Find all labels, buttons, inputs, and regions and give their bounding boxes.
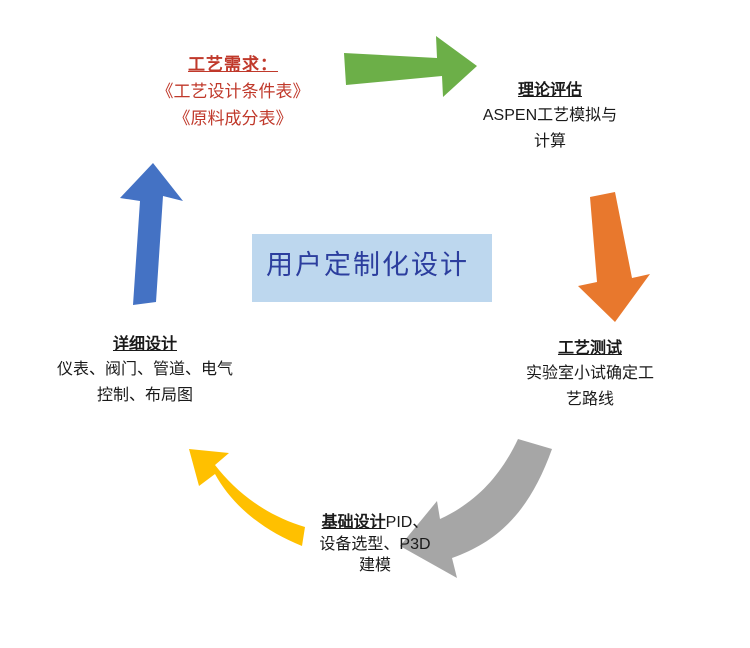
node-theory-title: 理论评估 [455,80,645,102]
center-label-text: 用户定制化设计 [252,252,469,279]
yellow-arrow-upleft-icon [189,449,305,546]
node-detail-title: 详细设计 [25,334,265,356]
node-requirements-title: 工艺需求： [128,54,338,77]
node-detail-line1: 仪表、阀门、管道、电气 [25,358,265,382]
node-theory-line2: 计算 [455,130,645,154]
node-basic-line1-rest: PID、 [386,514,429,531]
diagram-canvas: 用户定制化设计 工艺需求： 《工艺设计条件表》 《原料成分表》 理论评估 ASP… [0,0,750,648]
node-basic: 基础设计PID、 设备选型、P3D 建模 [290,512,460,577]
node-test: 工艺测试 实验室小试确定工 艺路线 [500,338,680,412]
center-label-box: 用户定制化设计 [252,234,492,302]
node-detail-line2: 控制、布局图 [25,384,265,408]
node-requirements-line1: 《工艺设计条件表》 [128,79,338,105]
node-test-line2: 艺路线 [500,388,680,412]
node-basic-line2: 设备选型、P3D [290,534,460,556]
node-theory-line1: ASPEN工艺模拟与 [455,104,645,128]
blue-arrow-up-icon [120,163,183,305]
node-basic-title: 基础设计 [322,514,386,531]
node-test-line1: 实验室小试确定工 [500,362,680,386]
node-theory: 理论评估 ASPEN工艺模拟与 计算 [455,80,645,154]
orange-arrow-down-icon [578,192,650,322]
node-requirements: 工艺需求： 《工艺设计条件表》 《原料成分表》 [128,54,338,132]
node-basic-line1: 基础设计PID、 [290,512,460,534]
node-requirements-line2: 《原料成分表》 [128,106,338,132]
node-detail: 详细设计 仪表、阀门、管道、电气 控制、布局图 [25,334,265,408]
node-test-title: 工艺测试 [500,338,680,360]
node-basic-line3: 建模 [290,555,460,577]
